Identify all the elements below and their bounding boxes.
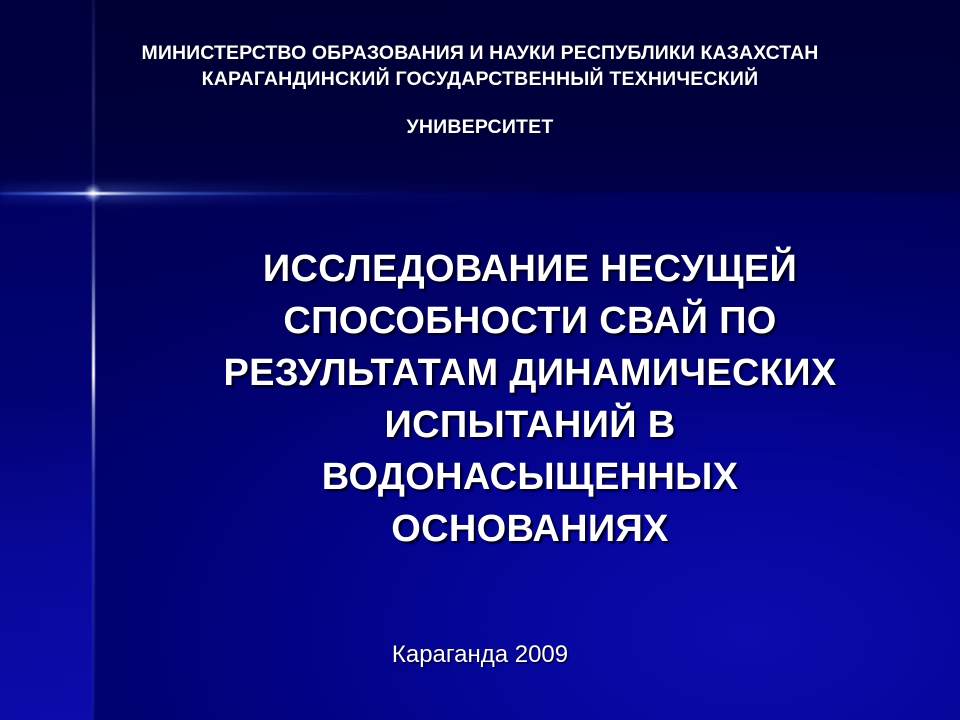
organization-header-line-3: УНИВЕРСИТЕТ — [0, 114, 960, 140]
slide-title-line-1: ИССЛЕДОВАНИЕ НЕСУЩЕЙ — [130, 243, 930, 295]
organization-header-line-1: МИНИСТЕРСТВО ОБРАЗОВАНИЯ И НАУКИ РЕСПУБЛ… — [0, 40, 960, 66]
slide-title: ИССЛЕДОВАНИЕ НЕСУЩЕЙ СПОСОБНОСТИ СВАЙ ПО… — [130, 243, 930, 555]
slide-footer: Караганда 2009 — [0, 640, 960, 670]
slide-title-line-4: ИСПЫТАНИЙ В — [130, 399, 930, 451]
organization-header-line-2: КАРАГАНДИНСКИЙ ГОСУДАРСТВЕННЫЙ ТЕХНИЧЕСК… — [0, 66, 960, 92]
slide-title-line-3: РЕЗУЛЬТАТАМ ДИНАМИЧЕСКИХ — [130, 347, 930, 399]
organization-header: МИНИСТЕРСТВО ОБРАЗОВАНИЯ И НАУКИ РЕСПУБЛ… — [0, 40, 960, 140]
footer-place-year: Караганда 2009 — [0, 640, 960, 670]
slide-title-line-5: ВОДОНАСЫЩЕННЫХ — [130, 451, 930, 503]
slide-title-line-6: ОСНОВАНИЯХ — [130, 503, 930, 555]
presentation-slide: МИНИСТЕРСТВО ОБРАЗОВАНИЯ И НАУКИ РЕСПУБЛ… — [0, 0, 960, 720]
slide-title-line-2: СПОСОБНОСТИ СВАЙ ПО — [130, 295, 930, 347]
